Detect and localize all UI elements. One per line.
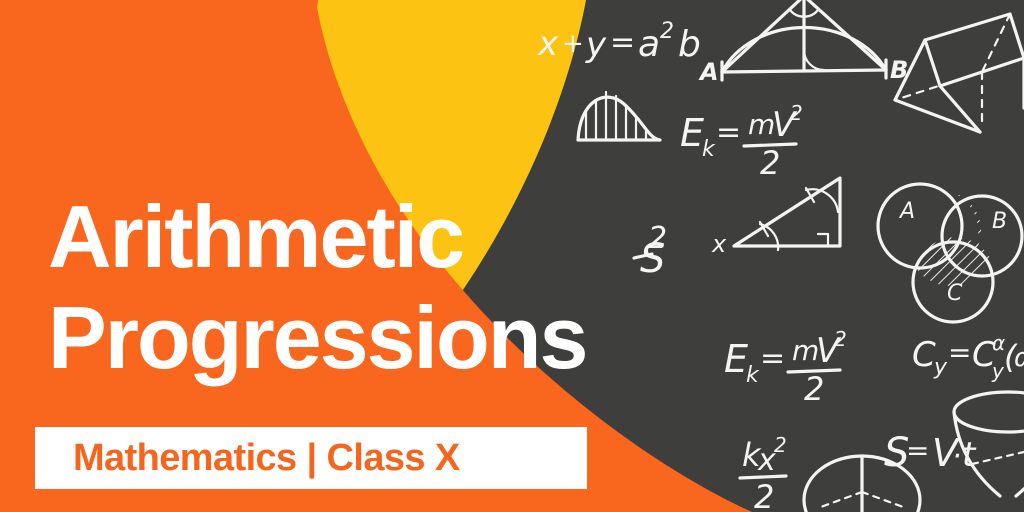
course-banner: x + y = a 2 b A B (0, 0, 1024, 512)
subtitle-label: Mathematics | Class X (35, 437, 460, 480)
title-line-1: Arithmetic (48, 186, 688, 287)
banner-content: Arithmetic Progressions Mathematics | Cl… (0, 0, 1024, 512)
page-title: Arithmetic Progressions (48, 186, 688, 388)
title-line-2: Progressions (48, 287, 688, 388)
subtitle-badge: Mathematics | Class X (35, 427, 587, 489)
